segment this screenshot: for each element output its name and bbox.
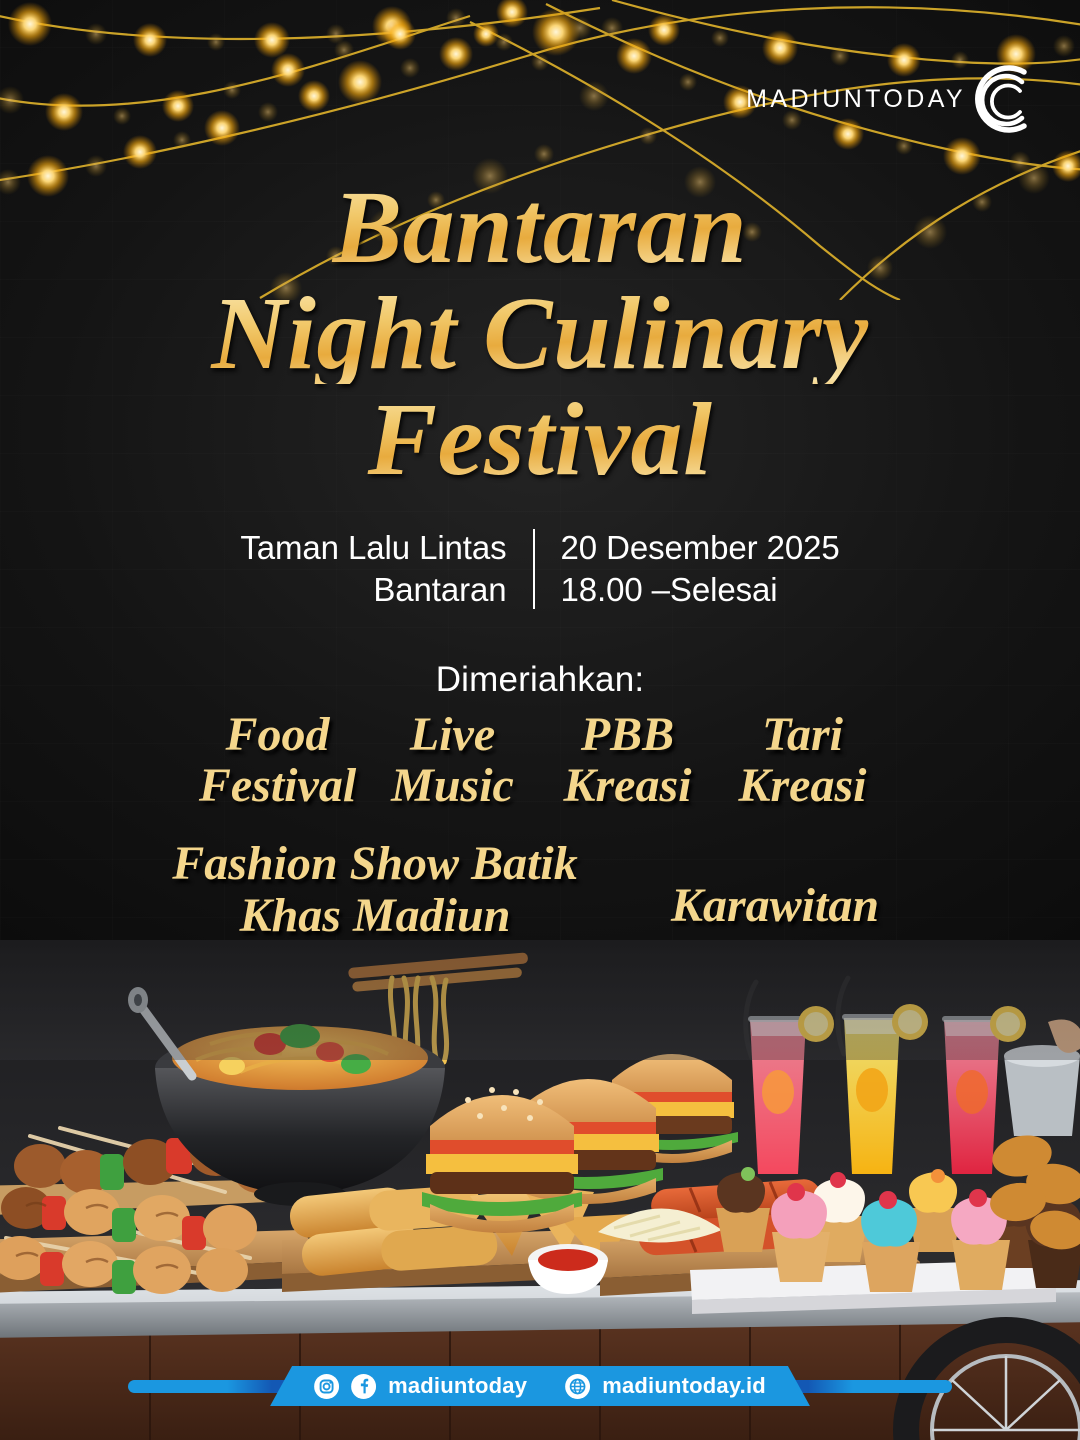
social-handles-panel: madiuntoday madiuntoday.id (270, 1366, 810, 1406)
title-line-2: Night Culinary (0, 284, 1080, 384)
instagram-icon[interactable] (314, 1374, 339, 1399)
lineup-item-food-festival: Food Festival (190, 710, 365, 812)
lineup-item-line-2: Music (365, 761, 540, 812)
venue-line-1: Taman Lalu Lintas (240, 527, 506, 569)
lineup-item-line-2: Kreasi (715, 761, 890, 812)
lineup-item-line-2: Kreasi (540, 761, 715, 812)
brand-logo[interactable]: MADIUNTODAY (746, 62, 1040, 136)
swoosh-icon (966, 62, 1040, 136)
title-line-1: Bantaran (0, 178, 1080, 278)
lineup-item-line-1: Food (190, 710, 365, 761)
footer-social-bar: madiuntoday madiuntoday.id (0, 1366, 1080, 1406)
poster-title: Bantaran Night Culinary Festival (0, 178, 1080, 489)
lineup-item-live-music: Live Music (365, 710, 540, 812)
globe-icon[interactable] (565, 1374, 590, 1399)
datetime-block: 20 Desember 2025 18.00 –Selesai (535, 527, 840, 611)
event-time: 18.00 –Selesai (561, 569, 840, 611)
facebook-icon[interactable] (351, 1374, 376, 1399)
event-details: Taman Lalu Lintas Bantaran 20 Desember 2… (0, 527, 1080, 611)
event-date: 20 Desember 2025 (561, 527, 840, 569)
lineup-item-line-1: Fashion Show (172, 837, 459, 890)
social-handle-text: madiuntoday (388, 1373, 527, 1399)
website-text: madiuntoday.id (602, 1373, 766, 1399)
title-line-3: Festival (0, 390, 1080, 490)
food-spread-photo (0, 940, 1080, 1440)
venue-line-2: Bantaran (240, 569, 506, 611)
lineup-item-pbb-kreasi: PBB Kreasi (540, 710, 715, 812)
venue-block: Taman Lalu Lintas Bantaran (240, 527, 532, 611)
lineup-item-line-1: Karawitan (671, 879, 879, 932)
poster-canvas: MADIUNTODAY Bantaran Night Culinary Fest… (0, 0, 1080, 1440)
lineup-row-2: Fashion Show Batik Khas Madiun Karawitan (0, 838, 1080, 942)
lineup-item-line-2: Festival (190, 761, 365, 812)
logo-wordmark: MADIUNTODAY (746, 85, 966, 114)
lineup-item-line-1: Tari (715, 710, 890, 761)
lineup-item-karawitan: Karawitan (610, 838, 940, 932)
lineup-row-1: Food Festival Live Music PBB Kreasi Tari… (0, 710, 1080, 812)
lineup-item-tari-kreasi: Tari Kreasi (715, 710, 890, 812)
lineup-item-fashion-show: Fashion Show Batik Khas Madiun (140, 838, 610, 942)
lineup-item-line-1: PBB (540, 710, 715, 761)
lineup-label: Dimeriahkan: (0, 660, 1080, 700)
lineup-item-line-1: Live (365, 710, 540, 761)
